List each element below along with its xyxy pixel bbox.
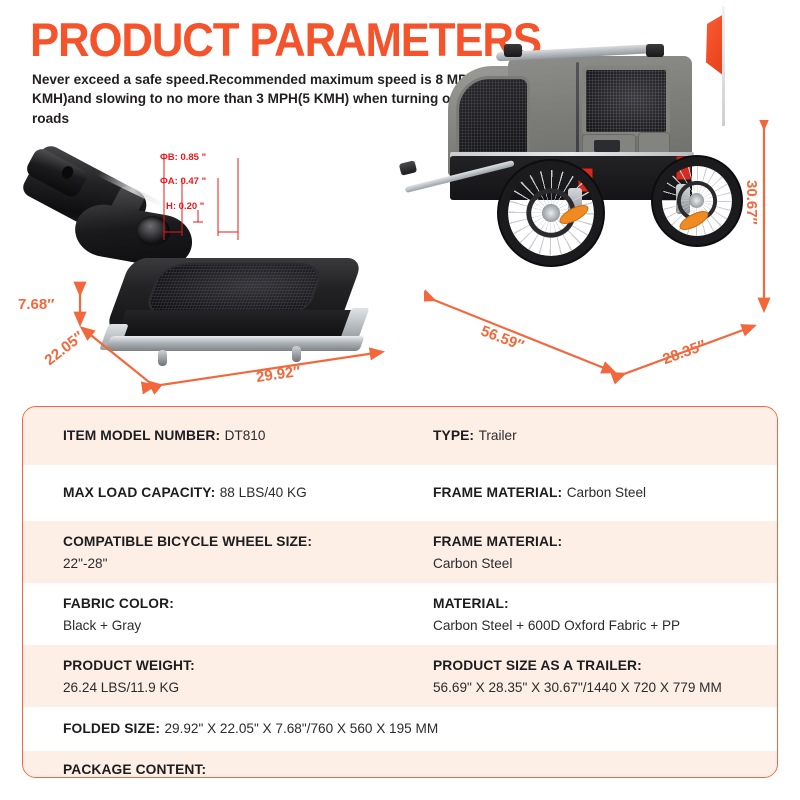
spec-cell: FRAME MATERIAL: Carbon Steel [433,484,777,502]
table-row-folded-size: FOLDED SIZE: 29.92" X 22.05" X 7.68"/760… [23,707,777,751]
spec-value: Black + Gray [63,618,423,633]
spec-cell: FABRIC COLOR: Black + Gray [63,596,433,633]
coupler-dim-h-label: H: 0.20 " [166,201,204,212]
spec-cell: PACKAGE CONTENT: 1 x Pet Trailer Main Fr… [63,761,777,778]
spec-cell: PRODUCT WEIGHT: 26.24 LBS/11.9 KG [63,658,433,695]
spec-value: Carbon Steel [567,485,646,500]
trailer-brand-tag [594,140,620,152]
table-row: FABRIC COLOR: Black + Gray MATERIAL: Car… [23,583,777,645]
table-row-package-content: PACKAGE CONTENT: 1 x Pet Trailer Main Fr… [23,751,777,778]
spec-value: DT810 [225,428,266,443]
spec-label: TYPE: [433,428,474,443]
flag-pole [722,6,725,126]
coupler-dim-a-label: ΦA: 0.47 " [160,176,206,187]
spec-value: 22"-28" [63,556,423,571]
spec-label: FRAME MATERIAL: [433,485,562,500]
roof-clip-right [646,44,664,57]
trailer-coupler-head [399,160,417,176]
trailer-rear-mesh-window [582,66,670,136]
assembled-height-label: 30.67″ [743,180,760,225]
infographic-canvas: PRODUCT PARAMETERS Never exceed a safe s… [0,0,800,800]
table-row: ITEM MODEL NUMBER: DT810 TYPE: Trailer [23,407,777,465]
trailer-wheel-hub-front [542,204,560,222]
spec-cell: TYPE: Trailer [433,427,777,445]
table-row: MAX LOAD CAPACITY: 88 LBS/40 KG FRAME MA… [23,465,777,521]
spec-label: FRAME MATERIAL: [433,534,767,549]
package-content-label: PACKAGE CONTENT: [63,762,206,777]
trailer-wheel-hub-rear [689,193,704,208]
spec-value: 88 LBS/40 KG [220,485,307,500]
spec-label: COMPATIBLE BICYCLE WHEEL SIZE: [63,534,423,549]
spec-label: PRODUCT WEIGHT: [63,658,423,673]
spec-cell: ITEM MODEL NUMBER: DT810 [63,427,433,445]
spec-label: MAX LOAD CAPACITY: [63,485,215,500]
folded-height-label: 7.68″ [18,296,54,313]
spec-cell: COMPATIBLE BICYCLE WHEEL SIZE: 22"-28" [63,534,433,571]
spec-cell: FRAME MATERIAL: Carbon Steel [433,534,777,571]
spec-cell: PRODUCT SIZE AS A TRAILER: 56.69" X 28.3… [433,658,777,695]
spec-value: Carbon Steel + 600D Oxford Fabric + PP [433,618,767,633]
coupler-dim-b-label: ΦB: 0.85 " [160,152,206,163]
spec-label: FABRIC COLOR: [63,596,423,611]
spec-cell: MAX LOAD CAPACITY: 88 LBS/40 KG [63,484,433,502]
spec-value: Carbon Steel [433,556,767,571]
roof-clip-left [504,44,522,57]
table-row: COMPATIBLE BICYCLE WHEEL SIZE: 22"-28" F… [23,521,777,583]
specification-table: ITEM MODEL NUMBER: DT810 TYPE: Trailer M… [22,406,778,778]
spec-cell: FOLDED SIZE: 29.92" X 22.05" X 7.68"/760… [63,720,777,738]
assembled-trailer-illustration [430,28,770,318]
assembled-dimension-arrows [424,282,794,412]
spec-value: 56.69" X 28.35" X 30.67"/1440 X 720 X 77… [433,680,767,695]
spec-cell: MATERIAL: Carbon Steel + 600D Oxford Fab… [433,596,777,633]
trailer-front-mesh-window [456,76,530,158]
spec-label: FOLDED SIZE: [63,721,160,736]
spec-label: ITEM MODEL NUMBER: [63,428,220,443]
table-row: PRODUCT WEIGHT: 26.24 LBS/11.9 KG PRODUC… [23,645,777,707]
spec-value: Trailer [479,428,517,443]
spec-label: PRODUCT SIZE AS A TRAILER: [433,658,767,673]
spec-value: 26.24 LBS/11.9 KG [63,680,423,695]
spec-label: MATERIAL: [433,596,767,611]
spec-value: 29.92" X 22.05" X 7.68"/760 X 560 X 195 … [164,721,438,736]
